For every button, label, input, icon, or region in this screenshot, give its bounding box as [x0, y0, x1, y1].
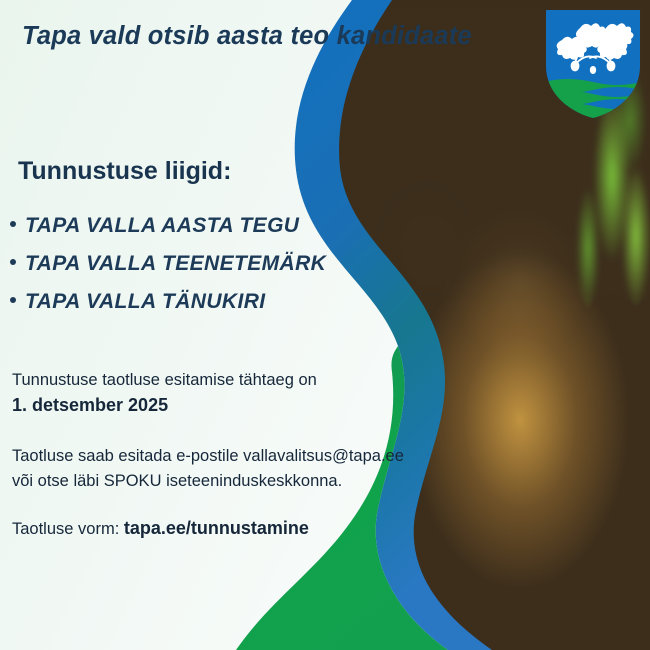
page-title: Tapa vald otsib aasta teo kandidaate	[22, 22, 472, 51]
form-block: Taotluse vorm: tapa.ee/tunnustamine	[12, 518, 309, 539]
shield-stripes	[544, 79, 642, 120]
kind-label: TAPA VALLA AASTA TEGU	[25, 214, 299, 238]
deadline-block: Tunnustuse taotluse esitamise tähtaeg on…	[12, 368, 317, 418]
apply-line-1: Taotluse saab esitada e-postile vallaval…	[12, 444, 404, 469]
deadline-text: Tunnustuse taotluse esitamise tähtaeg on	[12, 368, 317, 393]
list-item: TAPA VALLA AASTA TEGU	[10, 214, 326, 238]
kinds-list: TAPA VALLA AASTA TEGU TAPA VALLA TEENETE…	[10, 214, 326, 328]
bullet-icon	[10, 259, 16, 265]
kind-label: TAPA VALLA TEENETEMÄRK	[25, 252, 326, 276]
kinds-heading: Tunnustuse liigid:	[18, 157, 231, 186]
bullet-icon	[10, 297, 16, 303]
list-item: TAPA VALLA TÄNUKIRI	[10, 290, 326, 314]
bullet-icon	[10, 221, 16, 227]
list-item: TAPA VALLA TEENETEMÄRK	[10, 252, 326, 276]
form-label: Taotluse vorm:	[12, 520, 119, 538]
apply-block: Taotluse saab esitada e-postile vallaval…	[12, 444, 404, 494]
deadline-date: 1. detsember 2025	[12, 393, 317, 418]
kind-label: TAPA VALLA TÄNUKIRI	[25, 290, 266, 314]
coat-of-arms	[544, 8, 642, 120]
form-url[interactable]: tapa.ee/tunnustamine	[124, 518, 309, 538]
poster-canvas: Tapa vald otsib aasta teo kandidaate Tun…	[0, 0, 650, 650]
apply-line-2: või otse läbi SPOKU iseteeninduskeskkonn…	[12, 469, 404, 494]
